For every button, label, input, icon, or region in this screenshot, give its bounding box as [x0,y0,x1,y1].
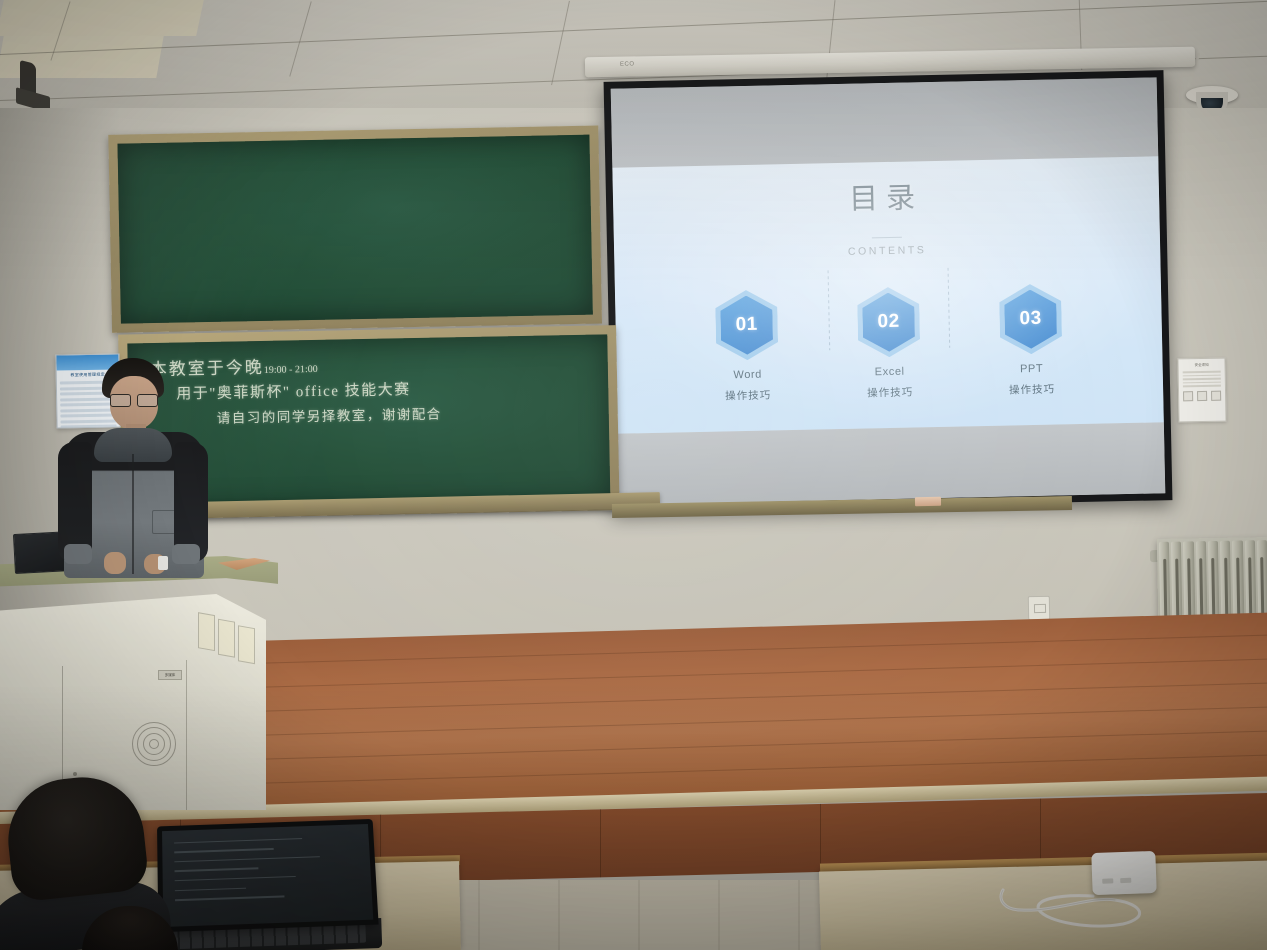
agenda-label: Word [705,368,791,382]
agenda-sublabel: 操作技巧 [847,384,933,401]
chalk-line-3: 请自习的同学另择教室，谢谢配合 [217,404,599,426]
projection-screen-surface: 目录 CONTENTS 01 Word 操作技巧 [611,77,1166,504]
ceiling-grid-line [289,1,311,76]
ceiling-light-panel-left [0,0,204,36]
classroom-photo: ECO 目录 CONTENTS 01 [0,0,1267,950]
notice-icon [1197,391,1207,401]
cabinet-lock-icon[interactable] [73,772,77,776]
chalkboard-upper-panel [108,125,602,332]
presentation-clicker-icon[interactable] [158,556,168,570]
speaker-grille-icon [132,722,174,764]
wall-power-outlet[interactable] [1028,596,1050,620]
wall-mount-bracket-icon [14,62,54,114]
ceiling-grid-line [551,1,570,85]
notice-right-title: 安全须知 [1179,363,1225,369]
agenda-item-02: 02 Excel 操作技巧 [845,286,933,401]
glasses-icon [110,394,158,405]
sleeve-cuff [172,544,200,564]
sleeve-cuff [64,544,92,564]
notice-icon [1211,391,1221,401]
hexagon-inner: 01 [720,295,773,355]
slide-title-divider [872,236,902,238]
chalkboard-surface-upper [117,135,592,324]
agenda-sublabel: 操作技巧 [705,387,791,404]
agenda-number: 02 [877,311,900,333]
cabinet-door-seam [186,660,187,832]
hexagon-inner: 02 [862,292,915,352]
notice-icon [1183,391,1193,401]
slide-title: 目录 [613,170,1160,223]
student-laptop[interactable] [150,818,382,950]
agenda-label: PPT [989,362,1075,376]
slide-agenda-items: 01 Word 操作技巧 02 Excel [615,281,1163,405]
screen-housing-label: ECO [620,61,635,67]
slide-dotted-separator [828,270,831,350]
agenda-item-03: 03 PPT 操作技巧 [987,283,1075,398]
jacket-zipper [132,454,134,574]
slide-subtitle: CONTENTS [614,239,1160,262]
white-power-bank[interactable] [1091,851,1156,895]
hexagon-badge-icon: 03 [999,284,1062,355]
hexagon-outer-ring [999,284,1062,355]
hexagon-badge-icon: 02 [857,287,920,358]
student-laptop-screen [162,824,373,927]
teacher-lectern: 多媒体 [0,556,282,818]
chalk-line-2: 用于"奥菲斯杯" office 技能大赛 [176,379,598,403]
chalk-eraser-icon[interactable] [915,497,941,506]
notice-right-icons [1179,391,1225,402]
projection-screen-frame: 目录 CONTENTS 01 Word 操作技巧 [604,70,1173,512]
chalk-line-1-time: 19:00 - 21:00 [264,364,318,376]
chalkboard-notice-text: 本教室于今晚19:00 - 21:00 用于"奥菲斯杯" office 技能大赛… [146,353,599,427]
hexagon-outer-ring [857,287,920,358]
chalk-line-1: 本教室于今晚19:00 - 21:00 [150,353,598,379]
laptop-lid [157,819,379,932]
hexagon-inner: 03 [1004,289,1057,349]
presenter-left-hand [104,552,126,574]
projected-slide: 目录 CONTENTS 01 Word 操作技巧 [612,156,1163,434]
slide-dotted-separator [948,268,951,348]
agenda-sublabel: 操作技巧 [989,381,1075,398]
notice-right-lines [1183,371,1221,388]
agenda-number: 01 [735,314,758,336]
screen-unlit-bottom [618,423,1165,505]
agenda-item-01: 01 Word 操作技巧 [703,289,791,404]
agenda-number: 03 [1019,308,1042,330]
agenda-label: Excel [847,365,933,379]
lectern-badge: 多媒体 [158,670,182,680]
presenter [58,358,208,578]
hexagon-badge-icon: 01 [715,289,778,360]
wall-notice-right: 安全须知 [1177,358,1226,423]
hexagon-outer-ring [715,289,778,360]
